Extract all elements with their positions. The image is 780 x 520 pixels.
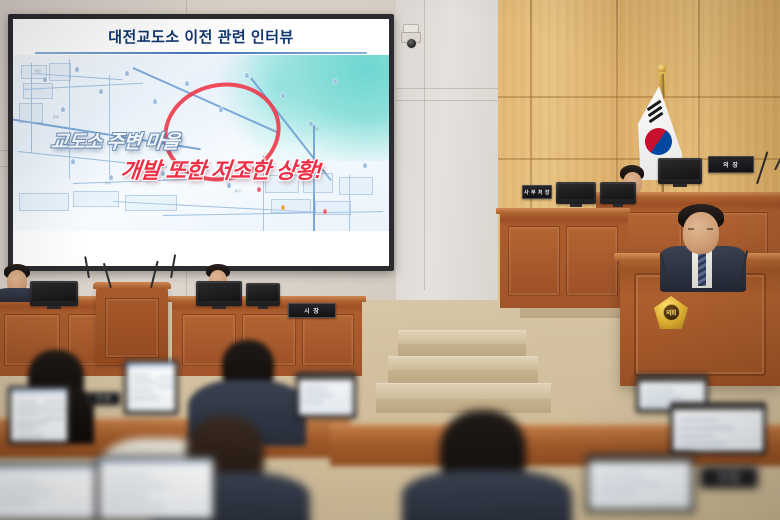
- mayor-nameplate: 시 장: [288, 303, 336, 318]
- attendee-laptop: [0, 462, 98, 520]
- projection-screen: 대전교도소 이전 관련 인터뷰: [13, 19, 389, 266]
- council-emblem-icon: 의회: [654, 296, 688, 329]
- staff-nameplate: 사 무 처 장: [522, 185, 552, 199]
- slide-map-image: 대전 유성 서구 중구 동구 대덕 교도소 주변 마을 개발 또한 저조한 상황…: [13, 55, 389, 231]
- slide-title-bar: 대전교도소 이전 관련 인터뷰: [13, 19, 389, 53]
- slide-overlay-line-1: 교도소 주변 마을: [50, 127, 181, 154]
- slide-title: 대전교도소 이전 관련 인터뷰: [108, 26, 294, 47]
- projection-screen-frame: 대전교도소 이전 관련 인터뷰: [8, 14, 394, 271]
- slide-overlay-line-2: 개발 또한 저조한 상황!: [119, 153, 324, 185]
- slide-title-underline: [35, 52, 367, 54]
- council-chamber-scene: 대전교도소 이전 관련 인터뷰: [0, 0, 780, 520]
- chair-monitor: [658, 158, 702, 184]
- slide-footer-band: [13, 231, 389, 266]
- staff-monitor: [556, 182, 596, 204]
- audience-row-front: 의 원: [0, 400, 780, 520]
- desk-nameplate: 의 원: [700, 466, 758, 488]
- staff-bench: [500, 212, 628, 308]
- security-camera-icon: [400, 24, 422, 50]
- chair-nameplate: 의 장: [708, 156, 754, 173]
- emblem-label: 의회: [663, 304, 680, 321]
- attendee-laptop: [96, 456, 216, 520]
- staff-bench-counter: [496, 208, 630, 214]
- attendee-laptop: [586, 454, 694, 512]
- member-monitor: [30, 281, 78, 306]
- attendee-shoulders: [402, 470, 572, 520]
- member-monitor: [246, 283, 280, 306]
- staff-monitor: [600, 182, 636, 204]
- member-monitor: [196, 281, 242, 306]
